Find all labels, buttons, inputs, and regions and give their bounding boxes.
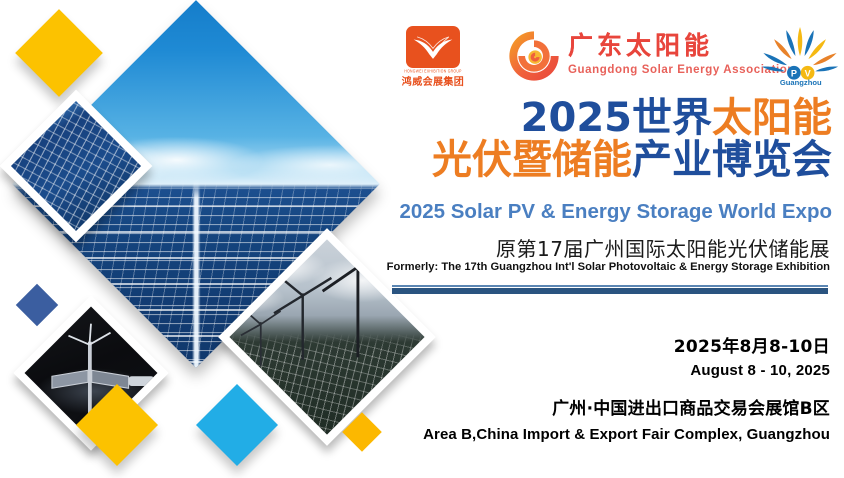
diamond-cyan-bottom bbox=[196, 384, 278, 466]
divider-thin-line bbox=[392, 285, 828, 287]
svg-text:P: P bbox=[791, 69, 797, 79]
content-column: HONGWEI EXHIBITION GROUP 鸿威会展集团 bbox=[378, 0, 844, 478]
title-line2-orange: 光伏暨储能 bbox=[432, 137, 632, 183]
hongwei-exhibition-group-logo: HONGWEI EXHIBITION GROUP 鸿威会展集团 bbox=[402, 26, 464, 88]
event-venue-chinese: 广州·中国进出口商品交易会展馆B区 bbox=[552, 394, 830, 419]
svg-text:V: V bbox=[805, 69, 812, 79]
wings-w-icon bbox=[411, 33, 455, 61]
title-line-1: 2025世界太阳能 bbox=[432, 98, 832, 140]
subtitle-chinese: 原第17届广州国际太阳能光伏储能展 bbox=[496, 233, 830, 262]
title-line1-blue: 2025世界 bbox=[521, 95, 712, 141]
event-venue-english: Area B,China Import & Export Fair Comple… bbox=[423, 426, 830, 443]
guangdong-solar-energy-association-logo: 广东太阳能 Guangdong Solar Energy Association bbox=[506, 24, 734, 88]
pv-guangzhou-logo: P V Guangzhou bbox=[754, 24, 844, 88]
solar-swirl-icon bbox=[506, 28, 562, 84]
divider-thick-bar bbox=[392, 288, 828, 294]
title-line2-blue: 产业博览会 bbox=[632, 137, 832, 183]
svg-text:Guangzhou: Guangzhou bbox=[780, 78, 822, 87]
page-title: 2025世界太阳能 光伏暨储能产业博览会 bbox=[432, 98, 832, 181]
subtitle-english: Formerly: The 17th Guangzhou Int'l Solar… bbox=[387, 261, 830, 273]
hongwei-wings-icon bbox=[406, 26, 460, 68]
gsea-logo-chinese: 广东太阳能 bbox=[568, 26, 713, 62]
hongwei-logo-english: HONGWEI EXHIBITION GROUP bbox=[404, 68, 461, 74]
diamond-yellow-top-left bbox=[15, 9, 103, 97]
swirl-spiral-icon bbox=[506, 28, 562, 84]
divider bbox=[392, 285, 828, 294]
event-date-english: August 8 - 10, 2025 bbox=[690, 362, 830, 379]
title-line-2: 光伏暨储能产业博览会 bbox=[432, 140, 832, 182]
pv-sunburst-icon: P V Guangzhou bbox=[754, 24, 844, 88]
title-english: 2025 Solar PV & Energy Storage World Exp… bbox=[399, 200, 832, 224]
logo-row: HONGWEI EXHIBITION GROUP 鸿威会展集团 bbox=[402, 26, 844, 88]
diamond-blue-small bbox=[16, 284, 58, 326]
hongwei-logo-chinese: 鸿威会展集团 bbox=[402, 73, 464, 88]
event-date-chinese: 2025年8月8-10日 bbox=[674, 332, 830, 357]
title-line1-orange: 太阳能 bbox=[712, 95, 832, 141]
expo-poster: HONGWEI EXHIBITION GROUP 鸿威会展集团 bbox=[0, 0, 844, 478]
